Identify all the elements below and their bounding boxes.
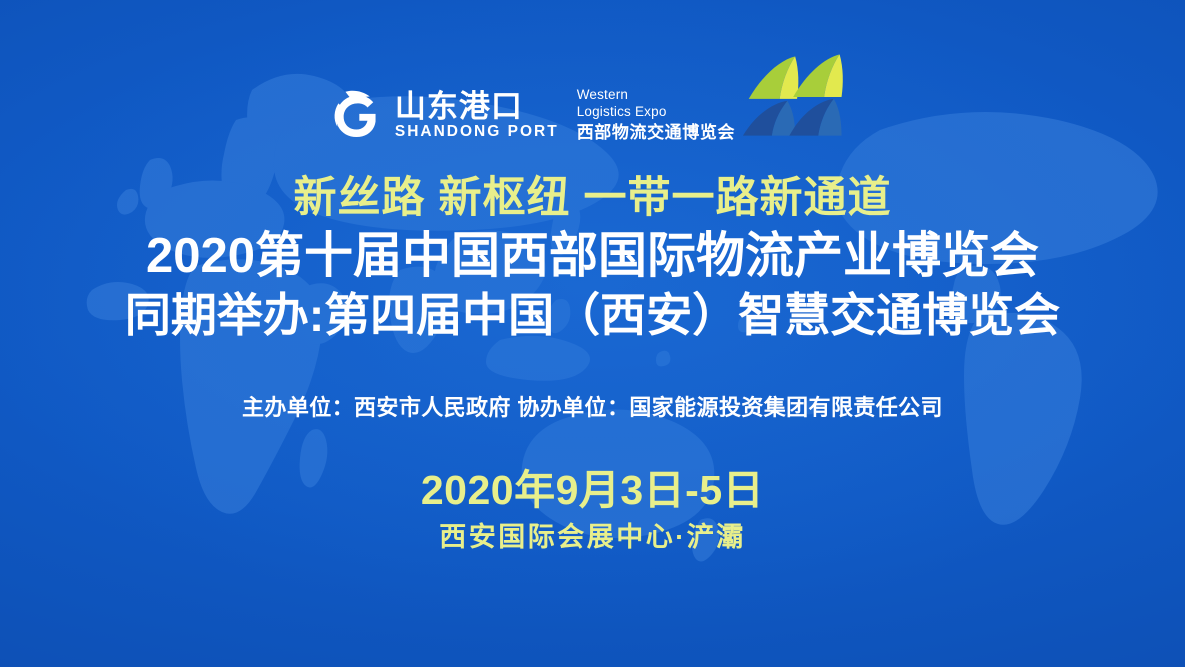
banner-content: 山东港口 SHANDONG PORT Western Logistics Exp…	[0, 0, 1185, 667]
event-date: 2020年9月3日-5日	[421, 468, 764, 513]
western-logistics-expo-wordmark: Western Logistics Expo 西部物流交通博览会	[577, 88, 735, 144]
wle-english-line-2: Logistics Expo	[577, 105, 735, 119]
shandong-port-chinese-name: 山东港口	[395, 91, 559, 122]
shandong-port-logo: 山东港口 SHANDONG PORT	[328, 86, 559, 148]
wle-english-line-1: Western	[577, 88, 735, 102]
western-logistics-expo-sails-mark	[741, 54, 857, 138]
logo-row: 山东港口 SHANDONG PORT Western Logistics Exp…	[328, 56, 857, 148]
western-logistics-expo-logo: Western Logistics Expo 西部物流交通博览会	[577, 54, 857, 148]
organizers-line: 主办单位：西安市人民政府 协办单位：国家能源投资集团有限责任公司	[242, 390, 943, 422]
sub-title-line: 同期举办:第四届中国（西安）智慧交通博览会	[0, 289, 1185, 342]
shandong-port-wordmark: 山东港口 SHANDONG PORT	[395, 91, 559, 140]
shandong-port-g-mark	[328, 86, 386, 144]
headline-block: 新丝路 新枢纽 一带一路新通道 2020第十届中国西部国际物流产业博览会 同期举…	[0, 174, 1185, 342]
shandong-port-english-name: SHANDONG PORT	[395, 124, 559, 140]
wle-chinese-name: 西部物流交通博览会	[577, 124, 735, 143]
main-title-line: 2020第十届中国西部国际物流产业博览会	[0, 228, 1185, 285]
slogan-line: 新丝路 新枢纽 一带一路新通道	[0, 174, 1185, 222]
expo-banner: 山东港口 SHANDONG PORT Western Logistics Exp…	[0, 0, 1185, 667]
event-details: 2020年9月3日-5日 西安国际会展中心·浐灞	[421, 468, 764, 553]
event-venue: 西安国际会展中心·浐灞	[421, 521, 764, 553]
